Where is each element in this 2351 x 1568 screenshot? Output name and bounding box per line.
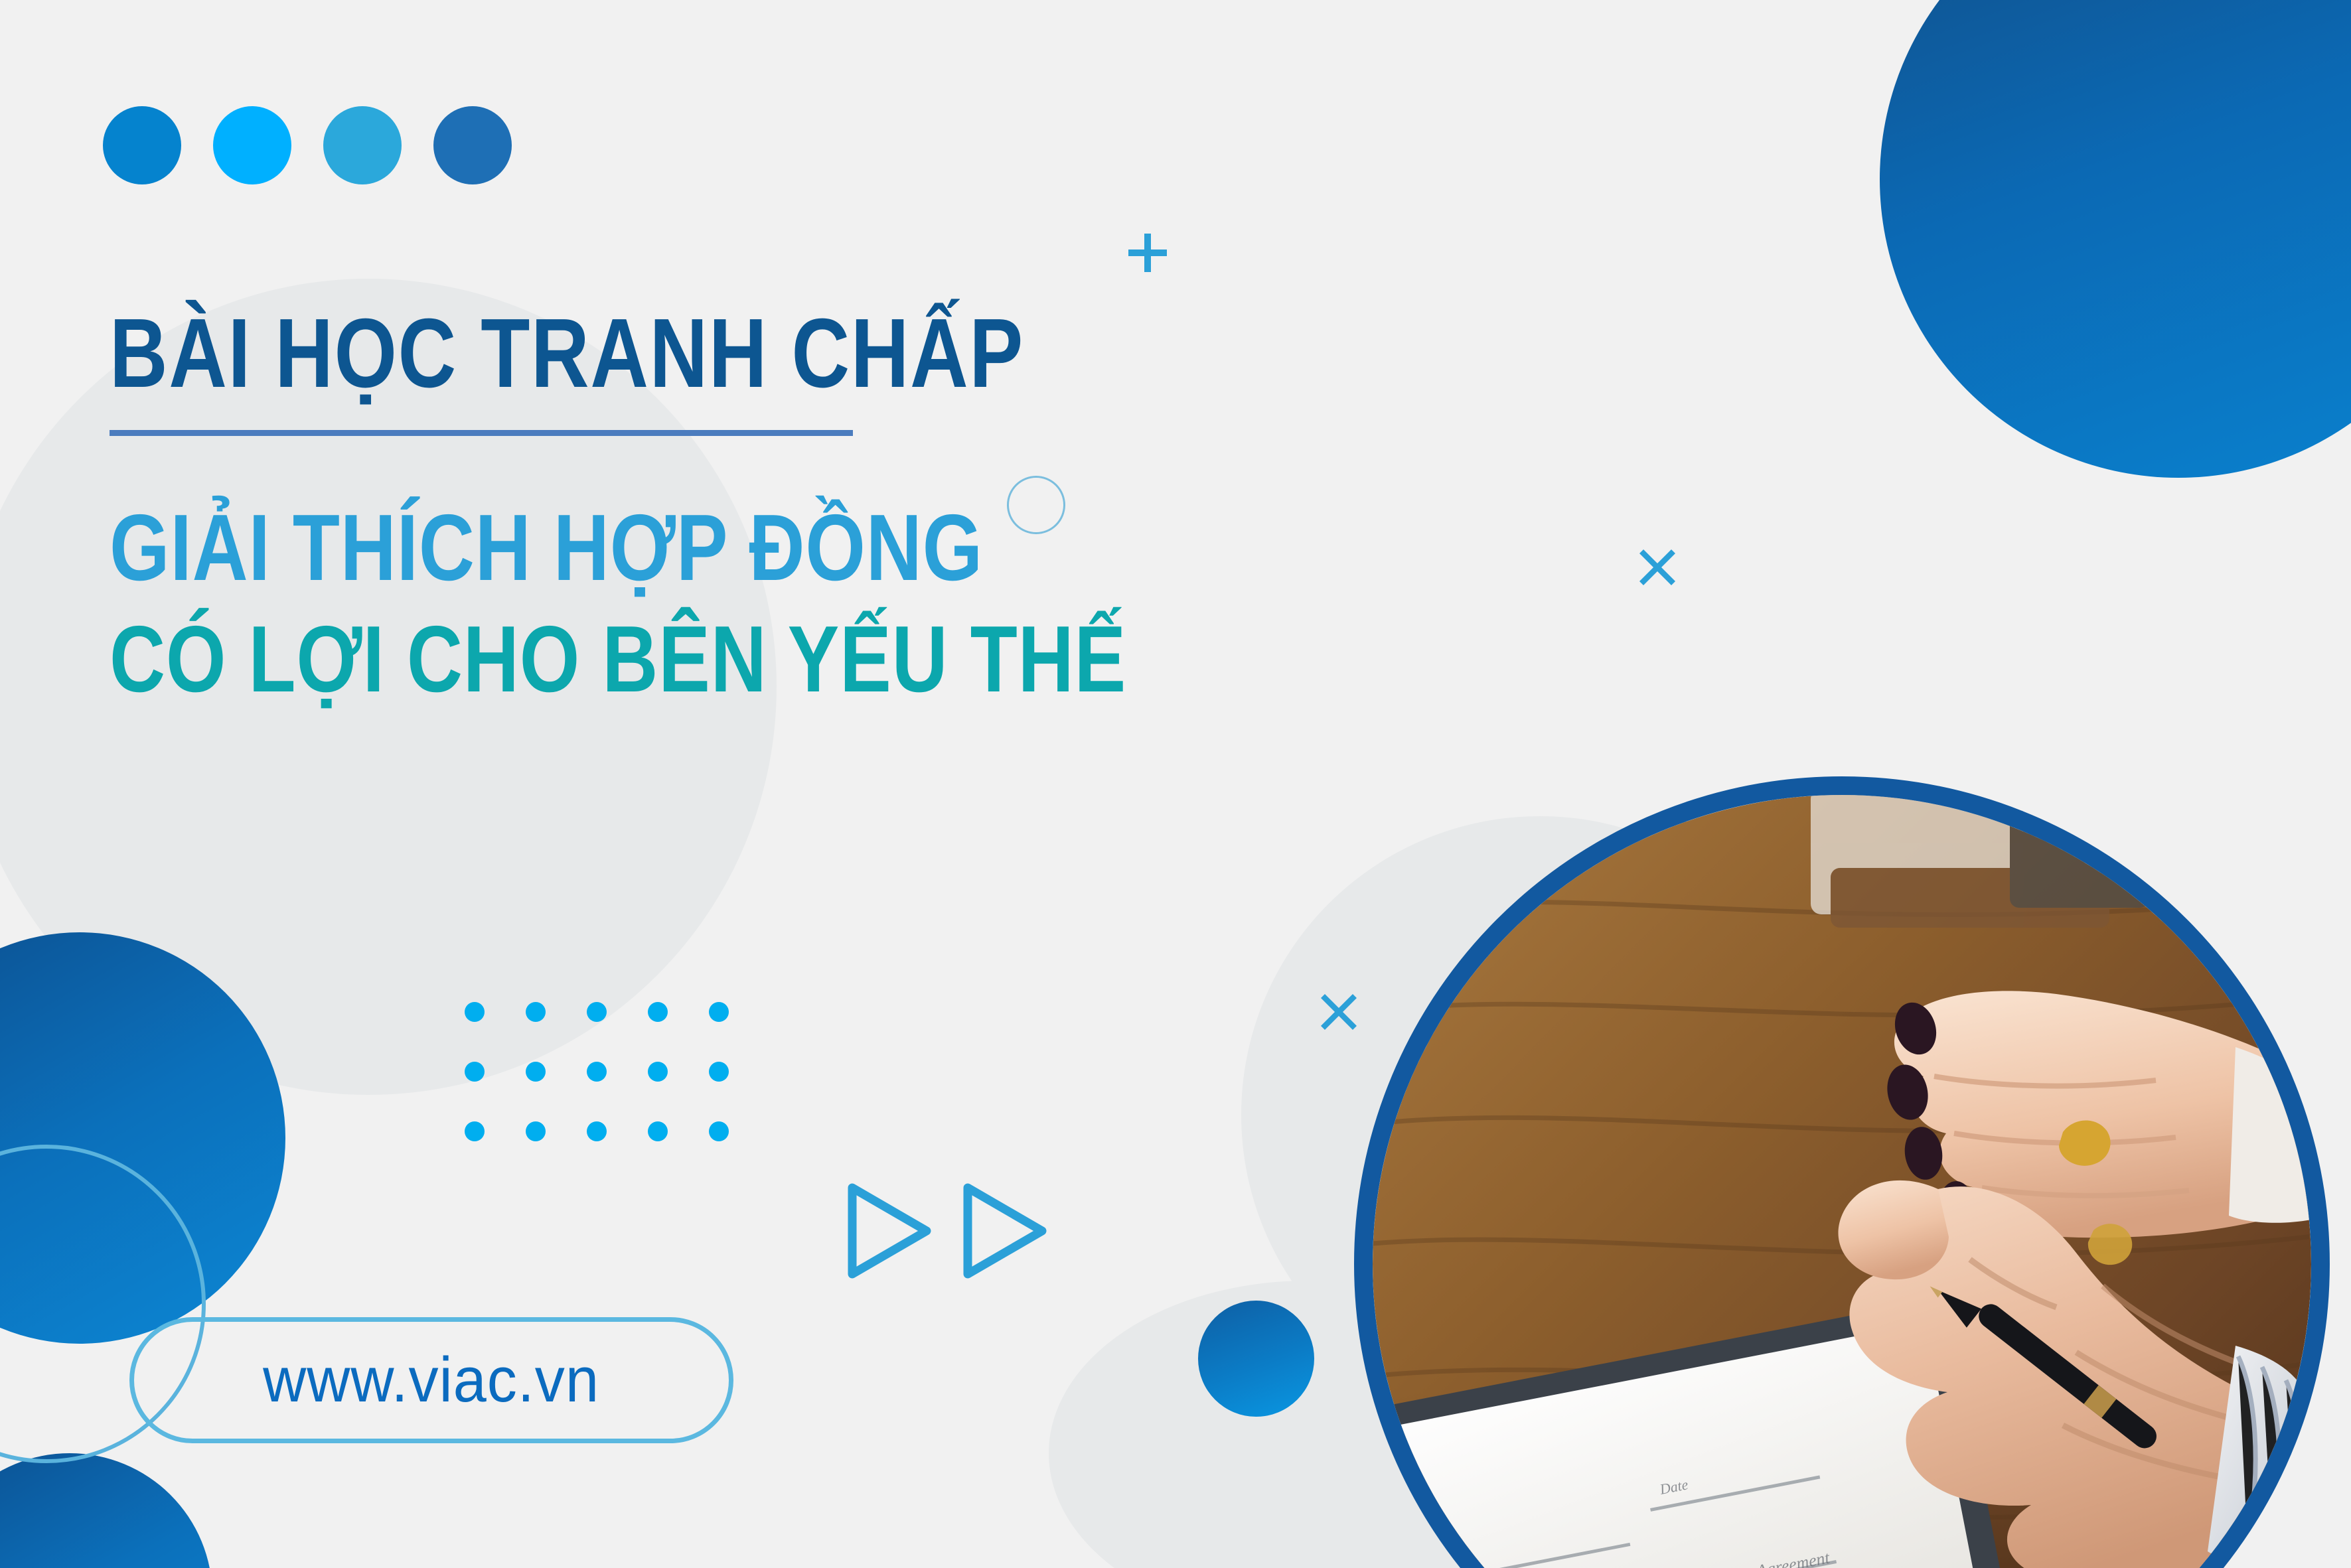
grid-dot	[465, 1002, 485, 1022]
x-icon-2	[1321, 994, 1357, 1030]
circle-outline-icon	[1007, 476, 1065, 534]
dot-grid-decoration	[465, 1002, 729, 1141]
subtitle-block: GIẢI THÍCH HỢP ĐỒNG CÓ LỢI CHO BÊN YẾU T…	[110, 492, 1349, 715]
grid-dot	[709, 1121, 729, 1141]
decorative-circle-bottom-center	[1198, 1301, 1314, 1417]
grid-dot	[526, 1062, 546, 1082]
grid-dot	[465, 1121, 485, 1141]
poster-canvas: BÀI HỌC TRANH CHẤP GIẢI THÍCH HỢP ĐỒNG C…	[0, 0, 2351, 1568]
subtitle-line-1: GIẢI THÍCH HỢP ĐỒNG	[110, 492, 1126, 604]
title-divider	[110, 430, 853, 436]
website-url-button[interactable]: www.viac.vn	[129, 1317, 733, 1443]
grid-dot	[526, 1002, 546, 1022]
grid-dot	[587, 1002, 607, 1022]
play-triangle-icon-1	[843, 1181, 936, 1284]
grid-dot	[648, 1062, 668, 1082]
grid-dot	[709, 1062, 729, 1082]
headline-block: BÀI HỌC TRANH CHẤP GIẢI THÍCH HỢP ĐỒNG C…	[110, 302, 1349, 715]
plus-icon	[1128, 234, 1167, 272]
contract-signing-photo: Certificate of subject to the provisions…	[1373, 795, 2311, 1568]
dot-2	[213, 106, 291, 184]
dot-4	[433, 106, 512, 184]
x-icon-1	[1639, 549, 1675, 585]
grid-dot	[526, 1121, 546, 1141]
grid-dot	[587, 1121, 607, 1141]
grid-dot	[587, 1062, 607, 1082]
play-triangle-icon-2	[958, 1181, 1051, 1284]
grid-dot	[648, 1002, 668, 1022]
decorative-circle-top-right	[1880, 0, 2351, 478]
decorative-circle-bottom-left	[0, 1453, 212, 1568]
website-url-label: www.viac.vn	[264, 1344, 600, 1417]
dot-3	[323, 106, 402, 184]
grid-dot	[465, 1062, 485, 1082]
grid-dot	[648, 1121, 668, 1141]
top-dots-row	[103, 106, 512, 184]
contract-signing-illustration: Certificate of subject to the provisions…	[1373, 795, 2311, 1568]
play-arrows-decoration	[843, 1181, 1051, 1284]
grid-dot	[709, 1002, 729, 1022]
dot-1	[103, 106, 181, 184]
page-title: BÀI HỌC TRANH CHẤP	[110, 302, 1126, 405]
subtitle-line-2: CÓ LỢI CHO BÊN YẾU THẾ	[110, 604, 1126, 715]
